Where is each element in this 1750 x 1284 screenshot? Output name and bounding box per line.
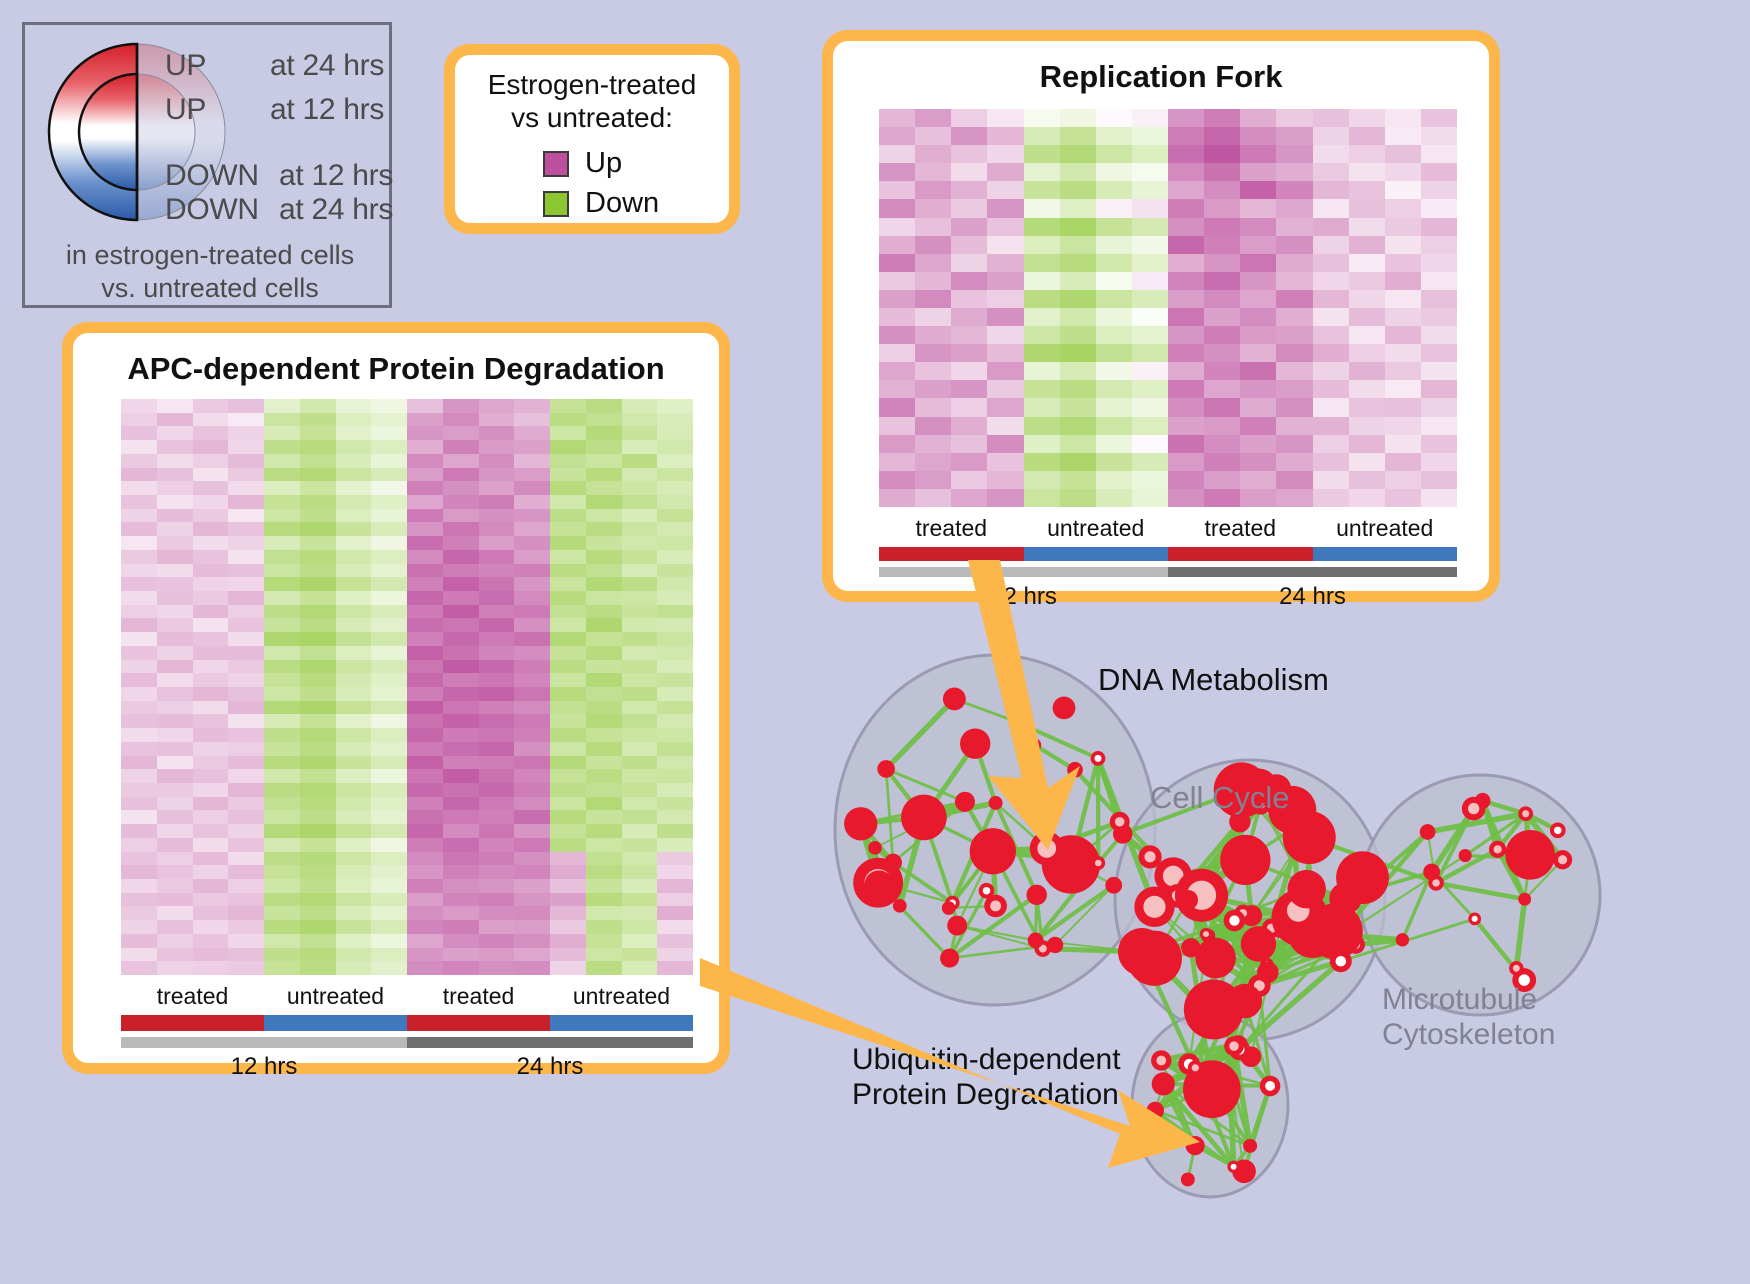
key-footer-line2: vs. untreated cells	[25, 272, 395, 305]
group-label: treated	[1168, 515, 1313, 542]
replication-fork-treatment-bar	[879, 547, 1457, 561]
key-time-down-12: at 12 hrs	[279, 159, 393, 193]
legend-title: Estrogen-treated vs untreated:	[455, 69, 729, 135]
legend-item-down: Down	[543, 187, 659, 220]
key-label-down-12: DOWN	[165, 159, 259, 193]
group-label: untreated	[264, 983, 407, 1010]
key-label-up-12: UP	[165, 93, 206, 127]
cluster-label-microtubule: Microtubule Cytoskeleton	[1382, 982, 1555, 1053]
apc-panel: APC-dependent Protein Degradation treate…	[62, 322, 730, 1074]
apc-treatment-bar	[121, 1015, 693, 1031]
apc-heatmap	[121, 399, 693, 975]
color-key-box: UP at 24 hrs UP at 12 hrs DOWN at 12 hrs…	[22, 22, 392, 308]
legend-label-up: Up	[585, 147, 622, 180]
legend-swatch-up	[543, 151, 569, 177]
group-label: untreated	[550, 983, 693, 1010]
apc-title: APC-dependent Protein Degradation	[73, 351, 719, 387]
apc-time-bar	[121, 1037, 693, 1048]
microtubule-line1: Microtubule	[1382, 982, 1555, 1017]
cluster-label-cell-cycle: Cell Cycle	[1150, 780, 1290, 816]
replication-fork-heatmap	[879, 109, 1457, 507]
group-label: untreated	[1024, 515, 1169, 542]
legend-title-line2: vs untreated:	[455, 102, 729, 135]
time-label: 12 hrs	[121, 1053, 407, 1081]
key-time-down-24: at 24 hrs	[279, 193, 393, 227]
group-label: untreated	[1313, 515, 1458, 542]
replication-fork-group-labels: treated untreated treated untreated	[879, 515, 1457, 542]
microtubule-line2: Cytoskeleton	[1382, 1017, 1555, 1052]
key-time-up-24: at 24 hrs	[270, 49, 384, 83]
arrow-apc-to-network	[700, 930, 1260, 1170]
legend-item-up: Up	[543, 147, 622, 180]
key-footer: in estrogen-treated cells vs. untreated …	[25, 239, 395, 305]
group-label: treated	[879, 515, 1024, 542]
replication-fork-panel: Replication Fork treated untreated treat…	[822, 30, 1500, 602]
key-label-down-24: DOWN	[165, 193, 259, 227]
arrow-replication-fork-to-network	[940, 560, 1140, 860]
apc-time-labels: 12 hrs 24 hrs	[121, 1053, 693, 1081]
group-label: treated	[121, 983, 264, 1010]
legend-swatch-down	[543, 191, 569, 217]
apc-group-labels: treated untreated treated untreated	[121, 983, 693, 1010]
legend-title-line1: Estrogen-treated	[455, 69, 729, 102]
key-time-up-12: at 12 hrs	[270, 93, 384, 127]
estrogen-legend-panel: Estrogen-treated vs untreated: Up Down	[444, 44, 740, 234]
time-label: 24 hrs	[407, 1053, 693, 1081]
key-label-up-24: UP	[165, 49, 206, 83]
replication-fork-title: Replication Fork	[833, 59, 1489, 95]
group-label: treated	[407, 983, 550, 1010]
legend-label-down: Down	[585, 187, 659, 220]
key-footer-line1: in estrogen-treated cells	[25, 239, 395, 272]
figure-canvas: UP at 24 hrs UP at 12 hrs DOWN at 12 hrs…	[0, 0, 1750, 1279]
